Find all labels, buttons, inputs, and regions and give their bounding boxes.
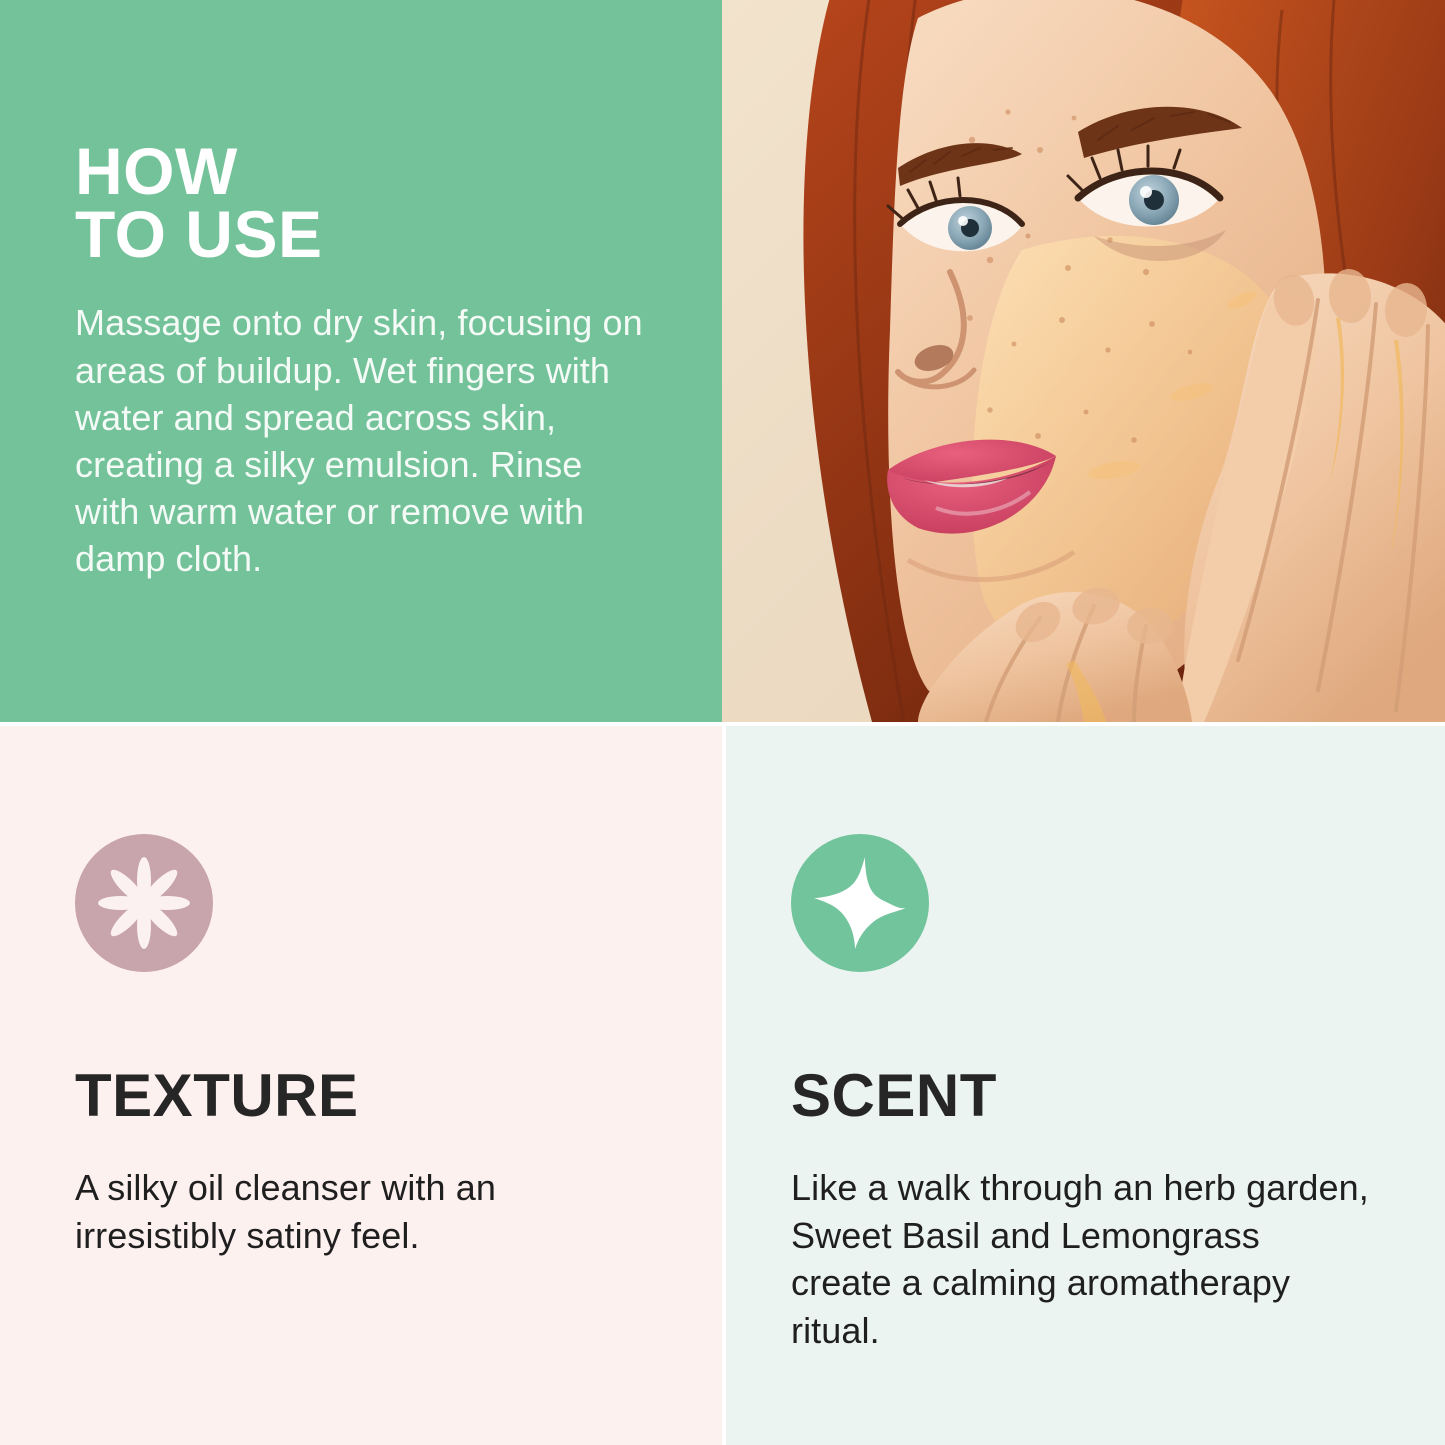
application-photo (722, 0, 1445, 722)
sparkle-icon-glyph (812, 855, 908, 951)
sparkle-icon (791, 834, 929, 972)
how-to-use-title: HOW TO USE (75, 140, 647, 265)
texture-panel: TEXTURE A silky oil cleanser with an irr… (0, 726, 722, 1445)
how-to-use-body: Massage onto dry skin, focusing on areas… (75, 299, 647, 582)
texture-title: TEXTURE (75, 1066, 647, 1126)
flower-icon (75, 834, 213, 972)
scent-panel: SCENT Like a walk through an herb garden… (726, 726, 1445, 1445)
scent-title: SCENT (791, 1066, 1370, 1126)
woman-applying-cleanser-illustration (722, 0, 1445, 722)
scent-body: Like a walk through an herb garden, Swee… (791, 1164, 1370, 1354)
texture-body: A silky oil cleanser with an irresistibl… (75, 1164, 635, 1259)
product-detail-infographic: HOW TO USE Massage onto dry skin, focusi… (0, 0, 1445, 1445)
flower-icon-glyph (98, 857, 190, 949)
how-to-use-panel: HOW TO USE Massage onto dry skin, focusi… (0, 0, 722, 722)
